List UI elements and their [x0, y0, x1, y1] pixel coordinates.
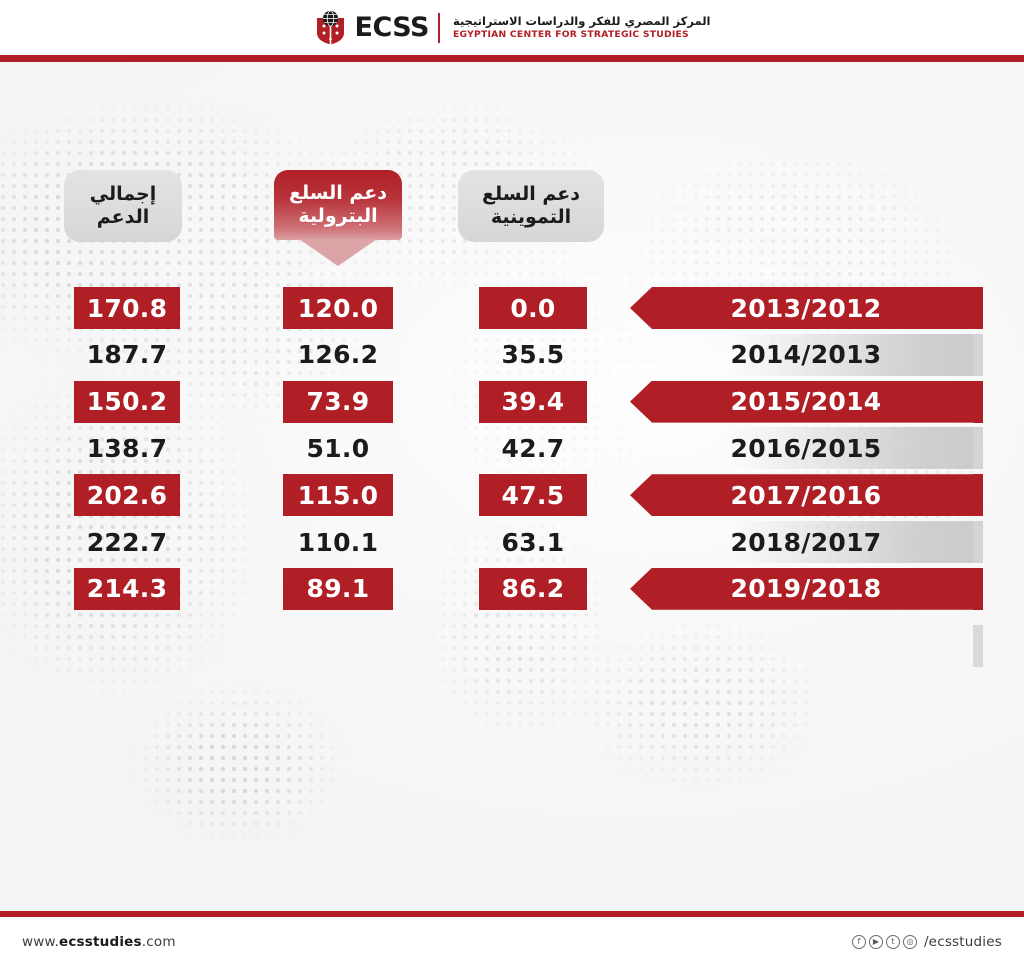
table-row: 202.6115.047.52017/2016 [0, 474, 1024, 516]
table-row: 187.7126.235.52014/2013 [0, 334, 1024, 376]
row-rail-segment [973, 334, 983, 376]
infographic-canvas: إجماليالدعمدعم السلعالبتروليةدعم السلعال… [0, 62, 1024, 911]
year-label: 2019/2018 [731, 574, 882, 603]
page-footer: www.ecsstudies.com f▶t◎/ecsstudies [0, 917, 1024, 966]
cell-food_subsidy: 42.7 [479, 427, 587, 469]
cell-petroleum_subsidy: 120.0 [283, 287, 393, 329]
cell-food_subsidy: 86.2 [479, 568, 587, 610]
infographic-page: ECSS المركز المصري للفكر والدراسات الاست… [0, 0, 1024, 966]
cell-food_subsidy: 35.5 [479, 334, 587, 376]
cell-petroleum_subsidy: 110.1 [283, 521, 393, 563]
rail-tail-segment [973, 625, 983, 667]
cell-petroleum_subsidy: 73.9 [283, 381, 393, 423]
cell-petroleum_subsidy: 51.0 [283, 427, 393, 469]
row-rail-segment [973, 287, 983, 329]
logo-mark [314, 10, 348, 46]
year-bar: 2017/2016 [630, 474, 982, 516]
cell-total_subsidy: 170.8 [74, 287, 180, 329]
year-bar: 2016/2015 [630, 427, 982, 469]
table-row: 214.389.186.22019/2018 [0, 568, 1024, 610]
globe-icon [322, 10, 339, 27]
cell-petroleum_subsidy: 126.2 [283, 334, 393, 376]
table-row: 150.273.939.42015/2014 [0, 381, 1024, 423]
cell-total_subsidy: 222.7 [74, 521, 180, 563]
year-label: 2018/2017 [731, 528, 882, 557]
year-bar: 2015/2014 [630, 381, 982, 423]
row-rail-segment [973, 427, 983, 469]
table-row: 138.751.042.72016/2015 [0, 427, 1024, 469]
cell-petroleum_subsidy: 115.0 [283, 474, 393, 516]
table-row: 170.8120.00.02013/2012 [0, 287, 1024, 329]
year-label: 2015/2014 [731, 387, 882, 416]
social-handle[interactable]: /ecsstudies [924, 934, 1002, 950]
cell-food_subsidy: 39.4 [479, 381, 587, 423]
page-header: ECSS المركز المصري للفكر والدراسات الاست… [0, 0, 1024, 55]
cell-total_subsidy: 150.2 [74, 381, 180, 423]
year-label: 2013/2012 [731, 294, 882, 323]
year-label: 2016/2015 [731, 434, 882, 463]
url-suffix: .com [142, 934, 176, 950]
row-rail-segment [973, 381, 983, 423]
year-bar: 2019/2018 [630, 568, 982, 610]
social-links: f▶t◎/ecsstudies [852, 934, 1002, 950]
cell-food_subsidy: 47.5 [479, 474, 587, 516]
row-rail-segment [973, 568, 983, 610]
twitter-icon[interactable]: t [886, 935, 900, 949]
ecss-logo: ECSS المركز المصري للفكر والدراسات الاست… [314, 10, 711, 46]
url-prefix: www. [22, 934, 59, 950]
data-rows: 170.8120.00.02013/2012187.7126.235.52014… [0, 62, 1024, 911]
logo-divider [438, 13, 440, 43]
table-row: 222.7110.163.12018/2017 [0, 521, 1024, 563]
instagram-icon[interactable]: ◎ [903, 935, 917, 949]
cell-petroleum_subsidy: 89.1 [283, 568, 393, 610]
cell-total_subsidy: 214.3 [74, 568, 180, 610]
row-rail-segment [973, 521, 983, 563]
cell-food_subsidy: 63.1 [479, 521, 587, 563]
facebook-icon[interactable]: f [852, 935, 866, 949]
year-bar: 2013/2012 [630, 287, 982, 329]
logo-abbrev: ECSS [355, 14, 429, 41]
year-label: 2014/2013 [731, 340, 882, 369]
year-bar: 2014/2013 [630, 334, 982, 376]
cell-total_subsidy: 138.7 [74, 427, 180, 469]
logo-english-name: EGYPTIAN CENTER FOR STRATEGIC STUDIES [453, 30, 710, 39]
youtube-icon[interactable]: ▶ [869, 935, 883, 949]
header-red-rule [0, 55, 1024, 62]
website-url[interactable]: www.ecsstudies.com [22, 934, 176, 950]
cell-total_subsidy: 202.6 [74, 474, 180, 516]
logo-arabic-name: المركز المصري للفكر والدراسات الاستراتيج… [453, 16, 710, 28]
year-label: 2017/2016 [731, 481, 882, 510]
row-rail-segment [973, 474, 983, 516]
cell-food_subsidy: 0.0 [479, 287, 587, 329]
url-brand: ecsstudies [59, 934, 142, 950]
year-bar: 2018/2017 [630, 521, 982, 563]
cell-total_subsidy: 187.7 [74, 334, 180, 376]
